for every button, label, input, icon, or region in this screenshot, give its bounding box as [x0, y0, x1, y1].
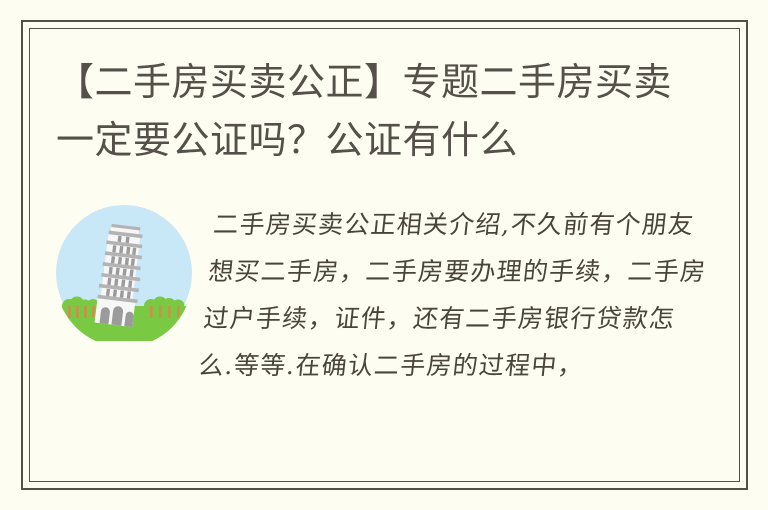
- article-title: 【二手房买卖公正】专题二手房买卖一定要公证吗？公证有什么: [56, 54, 706, 170]
- leaning-tower-icon: [56, 205, 192, 341]
- card-content: 【二手房买卖公正】专题二手房买卖一定要公证吗？公证有什么: [29, 28, 740, 482]
- article-body-row: 二手房买卖公正相关介绍,不久前有个朋友想买二手房，二手房要办理的手续，二手房过户…: [56, 201, 716, 389]
- article-body-text: 二手房买卖公正相关介绍,不久前有个朋友想买二手房，二手房要办理的手续，二手房过户…: [196, 201, 716, 389]
- article-card: 【二手房买卖公正】专题二手房买卖一定要公证吗？公证有什么: [0, 0, 768, 510]
